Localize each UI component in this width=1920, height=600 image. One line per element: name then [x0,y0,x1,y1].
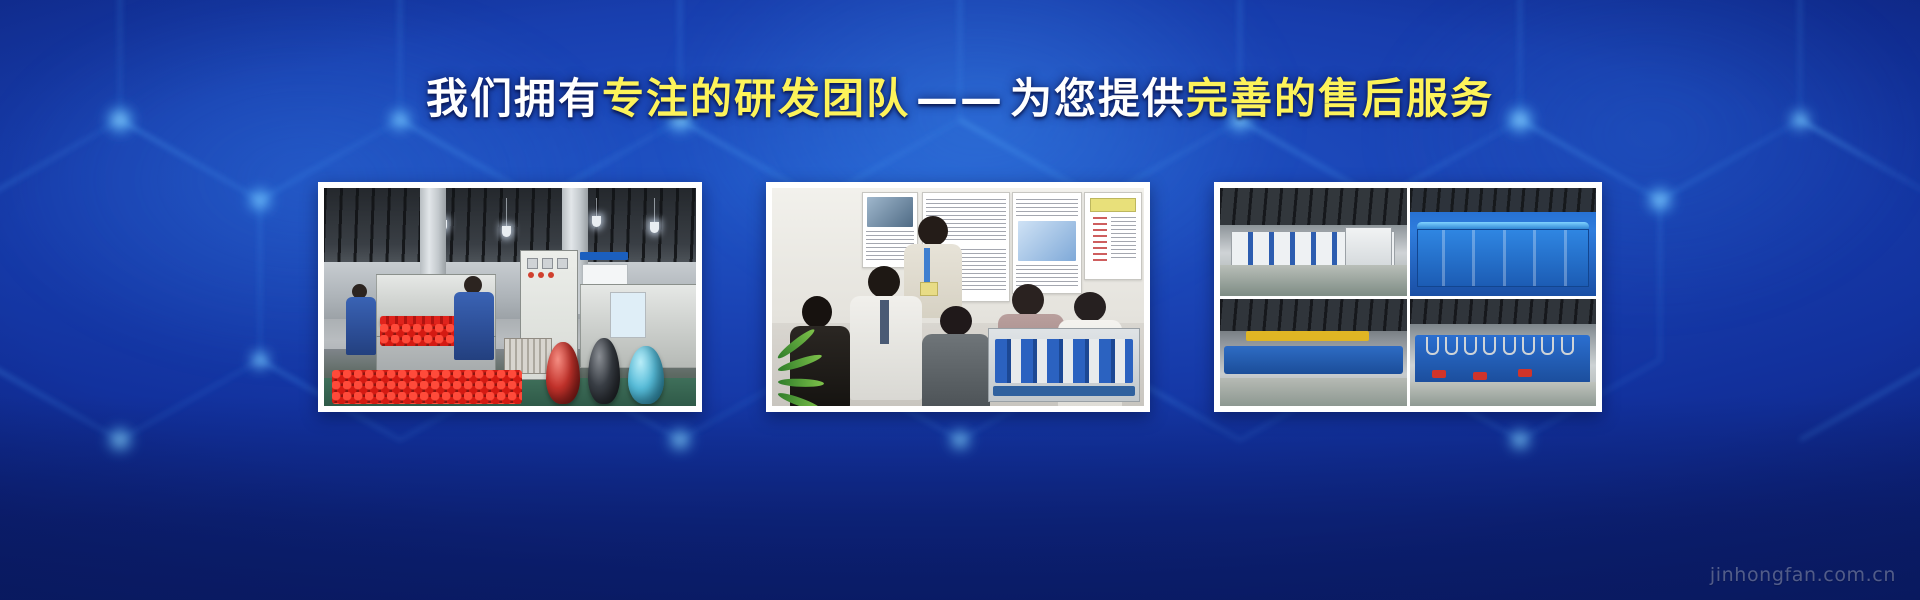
workshop-floor [1220,265,1407,295]
certificate-header [1090,198,1136,212]
part-hook [1561,337,1574,355]
wall-certificate [1084,192,1142,280]
oven-door-window [610,292,646,338]
part-hook [1483,337,1496,355]
ceiling-light [650,222,659,233]
indicator-lamp [538,272,544,278]
overhead-crane-beam [1246,331,1369,341]
cabinet-button [542,258,553,269]
indicator-lamp [548,272,554,278]
photo-team-meeting [772,188,1144,406]
headline-part-3: 为您提供 [1010,74,1186,123]
poster-diagram-image [1018,221,1076,261]
machine-brand-label [580,252,628,260]
plant-leaf [778,378,824,388]
lanyard [924,248,930,282]
headline-part-1: 我们拥有 [426,74,602,123]
cabinet-buttons [527,258,568,269]
photo-production-line [324,188,696,406]
red-workpiece [1432,370,1446,378]
worker-left [344,284,384,374]
person-head [868,266,900,298]
workshop-roof [1220,299,1407,331]
photo-card-production-line[interactable] [318,182,702,412]
certificate-seal-column [1093,217,1107,261]
collage-cell-drying-ovens [1220,188,1407,296]
workshop-floor [1220,378,1407,406]
part-hook [1426,337,1439,355]
photo-card-team-meeting[interactable] [766,182,1150,412]
part-hook [1445,337,1458,355]
person-head [1074,292,1106,322]
furnace-rib [1472,230,1475,286]
indicator-lamp [528,272,534,278]
cabinet-button [527,258,538,269]
person-head [802,296,832,328]
plastic-crate [504,338,552,374]
ceiling-light [502,226,511,237]
headline-container: 我们拥有专注的研发团队——为您提供完善的售后服务 [0,78,1920,120]
person-head [940,306,972,336]
red-workpiece [1473,372,1487,380]
furnace-rib [1442,230,1445,286]
furnace-rib [1564,230,1567,286]
red-workpiece [1518,369,1532,377]
workshop-roof [1220,188,1407,225]
workshop-roof [1410,188,1597,212]
foreground-plant [774,336,836,406]
part-hook [1522,337,1535,355]
product-vase-red [546,342,580,404]
workshop-roof [1410,299,1597,325]
worker-body [454,292,494,360]
cabinet-button [557,258,568,269]
person-seated-back [922,306,992,406]
light-rod [654,198,655,222]
headline-part-4-highlight: 完善的售后服务 [1186,74,1494,123]
part-hook [1541,337,1554,355]
red-product-pile [332,370,522,404]
person-head [1012,284,1044,316]
ceiling-light [592,216,601,227]
part-hook [1503,337,1516,355]
tunnel-furnace [1417,229,1589,287]
light-rod [596,198,597,216]
collage-cell-hanging-rack-line [1410,299,1597,407]
collage-cell-conveyor-line [1220,299,1407,407]
person-head [918,216,948,246]
furnace-rib [1503,230,1506,286]
wall-poster-diagram [1012,192,1082,294]
worker-body [346,297,376,355]
equipment-photo-inset [988,328,1140,402]
product-vase-black [588,338,620,404]
collage-cell-blue-tunnel-furnace [1410,188,1597,296]
headline-dash: —— [910,74,1010,123]
poster-text-lines [1016,199,1078,217]
photo-gallery [0,182,1920,412]
site-watermark: jinhongfan.com.cn [1710,564,1896,586]
cabinet-indicators [528,272,554,278]
furnace-rib [1533,230,1536,286]
photo-card-equipment-collage[interactable] [1214,182,1602,412]
worker-right [450,276,498,382]
plant-leaf [777,390,823,406]
workshop-floor [1410,382,1597,406]
headline-part-2-highlight: 专注的研发团队 [602,74,910,123]
headline: 我们拥有专注的研发团队——为您提供完善的售后服务 [426,78,1494,120]
photo-equipment-collage [1220,188,1596,406]
person-seated-center [850,266,924,406]
light-rod [506,198,507,226]
certificate-text [1111,217,1136,261]
conveyor-line [1224,346,1403,374]
equipment-line [995,339,1133,383]
person-torso [922,334,990,406]
necktie [880,300,889,344]
equipment-base [993,386,1135,396]
part-hook [1464,337,1477,355]
product-vase-cyan [628,346,664,404]
background-bottom-shade [0,396,1920,600]
promo-banner: 我们拥有专注的研发团队——为您提供完善的售后服务 [0,0,1920,600]
